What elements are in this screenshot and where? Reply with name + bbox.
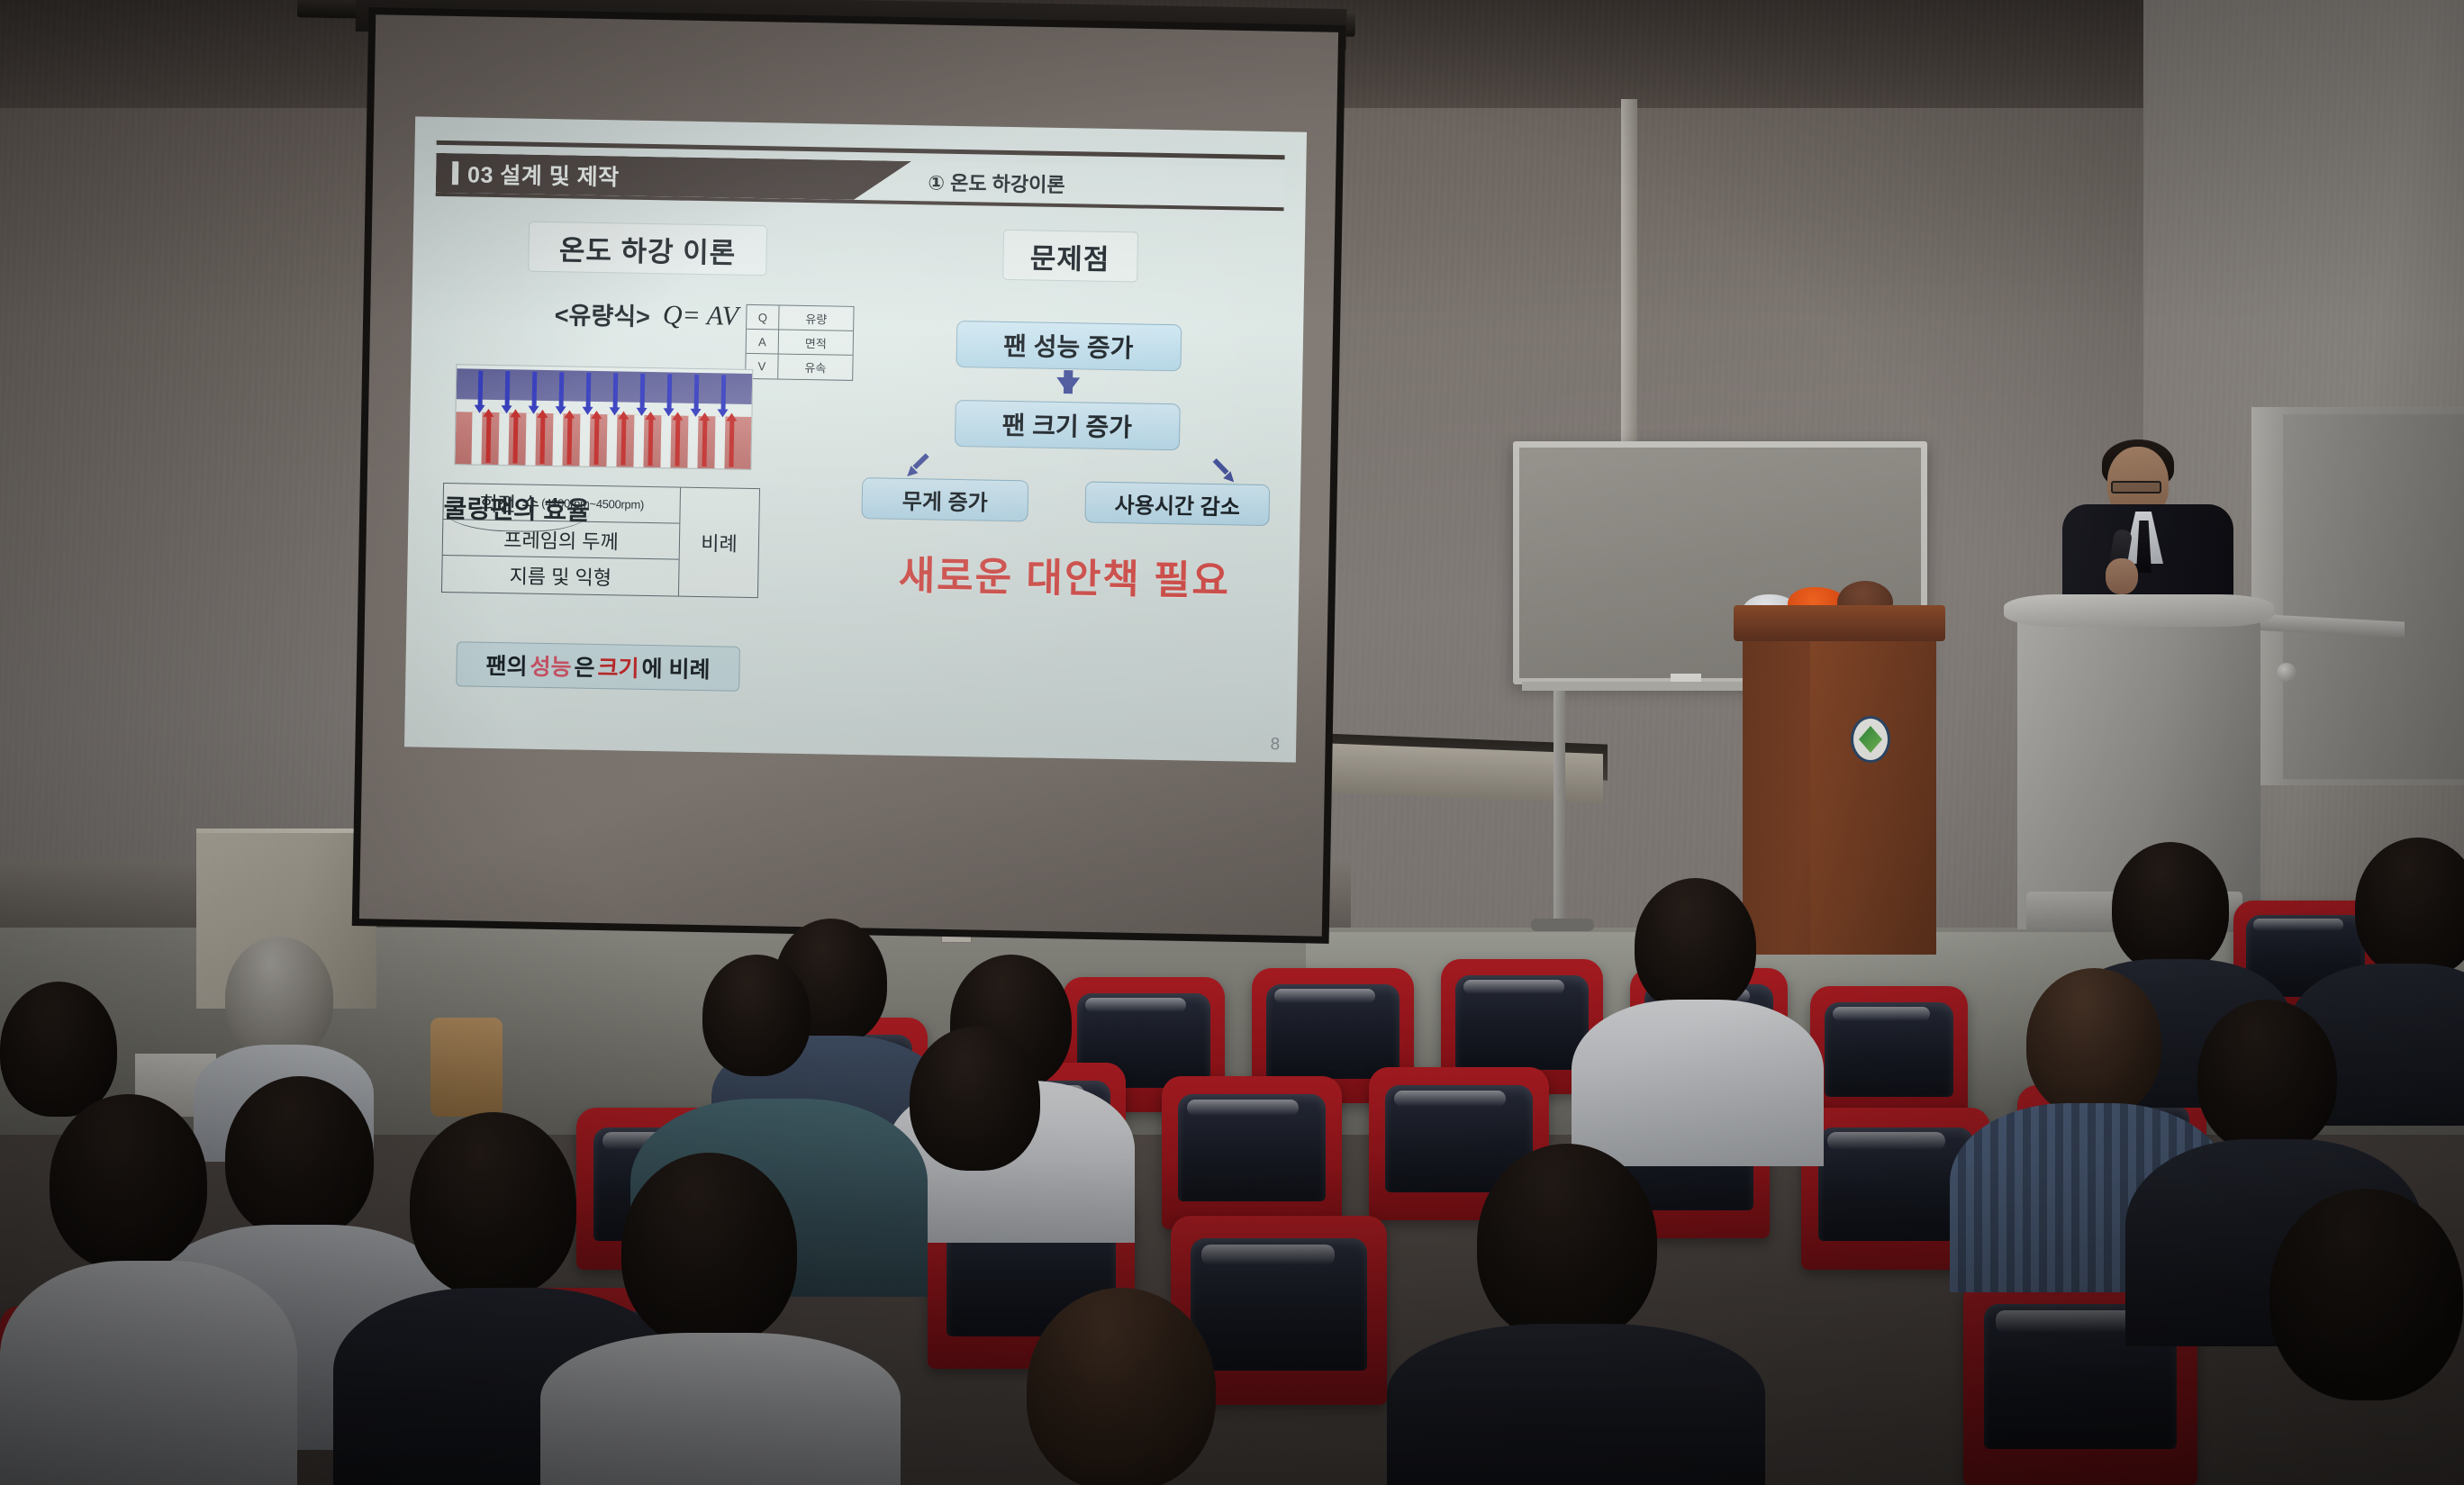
projected-slide: 03 설계 및 제작 ① 온도 하강이론 온도 하강 이론 <유량식> Q= A… [404, 116, 1307, 762]
slide-body: 온도 하강 이론 <유량식> Q= AV Q 유량 A 면적 V [428, 213, 1282, 737]
legend-meaning: 면적 [779, 330, 853, 354]
audience-head [2026, 968, 2161, 1117]
audience-shoulders [0, 1261, 297, 1485]
left-title: 온도 하강 이론 [528, 222, 767, 276]
glasses-icon [2111, 481, 2161, 493]
audience-head [50, 1094, 207, 1270]
chair[interactable] [1810, 986, 1968, 1121]
arrow-down-left-icon [903, 449, 931, 477]
audience-head [2112, 842, 2229, 973]
wooden-chair-back[interactable] [430, 1018, 503, 1117]
flow-box-weight-increase: 무게 증가 [861, 477, 1028, 521]
slide-page-number: 8 [1270, 735, 1280, 755]
audience-shoulders [540, 1333, 901, 1485]
heatsink-top-plate [457, 368, 753, 404]
flow-box-fan-performance: 팬 성능 증가 [956, 321, 1182, 371]
efficiency-table-header: 쿨링팬의 효율 [443, 484, 590, 533]
arrow-down-right-icon [1207, 455, 1235, 483]
legend-row: Q 유량 [747, 305, 853, 331]
slide-left-column: 온도 하강 이론 <유량식> Q= AV Q 유량 A 면적 V [428, 213, 859, 729]
formula-label: <유량식> [555, 295, 651, 332]
efficiency-table: 쿨링팬의 효율 회전 수 (4200rpm~4500rpm) 프레임의 두께 [441, 483, 760, 598]
whiteboard-foot-left [1531, 919, 1594, 931]
audience-head [621, 1153, 797, 1346]
flow-box-usage-time-decrease: 사용시간 감소 [1084, 481, 1270, 526]
arrow-down-icon [1055, 377, 1079, 394]
door-panel[interactable] [2283, 414, 2464, 779]
conclusion-highlight-performance: 성능 [530, 649, 572, 683]
formula-expression: Q= AV [663, 300, 739, 331]
conclusion-part3: 에 비례 [641, 651, 711, 684]
audience-head [1477, 1144, 1657, 1342]
chip-tick-mark [452, 161, 458, 185]
legend-symbol: Q [747, 305, 779, 330]
slide-header: 03 설계 및 제작 ① 온도 하강이론 [436, 140, 1285, 214]
audience-head [410, 1112, 576, 1297]
legend-meaning: 유속 [778, 354, 852, 379]
efficiency-relation: 비례 [678, 488, 759, 598]
university-emblem-icon [1851, 716, 1890, 763]
header-section-label: ① 온도 하강이론 [928, 167, 1065, 198]
chair[interactable] [1162, 1076, 1342, 1229]
header-chip: 03 설계 및 제작 [436, 153, 911, 201]
emblem-leaf-shape [1859, 726, 1882, 753]
wooden-podium-front [1810, 630, 1936, 955]
audience-head [2197, 1000, 2337, 1153]
wall-pipe [1621, 99, 1637, 495]
legend-row: A 면적 [747, 330, 853, 356]
audience-head [1027, 1288, 1216, 1485]
whiteboard-leg-left [1554, 691, 1565, 925]
wooden-podium-top [1734, 605, 1945, 641]
audience-head [225, 1076, 374, 1238]
right-title: 문제점 [1002, 230, 1138, 283]
heatsink-diagram-image [454, 364, 753, 470]
audience-head [2269, 1189, 2463, 1400]
audience-head [702, 955, 811, 1076]
table-row: 지름 및 익형 [442, 556, 679, 596]
audience-shoulders [1572, 1000, 1824, 1166]
whiteboard-eraser [1671, 674, 1701, 682]
audience-head [0, 982, 117, 1117]
audience-head [225, 937, 333, 1058]
left-conclusion-box: 팬의 성능 은 크기 에 비례 [456, 641, 740, 691]
audience-head [2355, 838, 2464, 977]
lecture-hall-scene: 03 설계 및 제작 ① 온도 하강이론 온도 하강 이론 <유량식> Q= A… [0, 0, 2464, 1485]
header-chip-label: 03 설계 및 제작 [467, 157, 620, 192]
audience-head [910, 1027, 1040, 1171]
callout-new-alternative-needed: 새로운 대안책 필요 [853, 542, 1276, 607]
slide-right-column: 문제점 팬 성능 증가 팬 크기 증가 [850, 220, 1282, 737]
conclusion-part2: 은 [574, 650, 595, 683]
lectern-top-surface [2004, 594, 2274, 627]
legend-symbol: A [747, 330, 779, 354]
door-knob-icon[interactable] [2277, 663, 2296, 683]
symbol-legend-table: Q 유량 A 면적 V 유속 [745, 304, 854, 381]
factor-label: 지름 및 익형 [509, 560, 611, 591]
conclusion-part1: 팬의 [485, 648, 528, 682]
legend-meaning: 유량 [779, 306, 853, 331]
audience-shoulders [1387, 1324, 1765, 1485]
presenter-hand [2106, 558, 2138, 594]
legend-row: V 유속 [746, 354, 852, 380]
conclusion-highlight-size: 크기 [597, 650, 639, 684]
flow-box-fan-size: 팬 크기 증가 [954, 400, 1180, 450]
audience-head [1635, 878, 1756, 1013]
